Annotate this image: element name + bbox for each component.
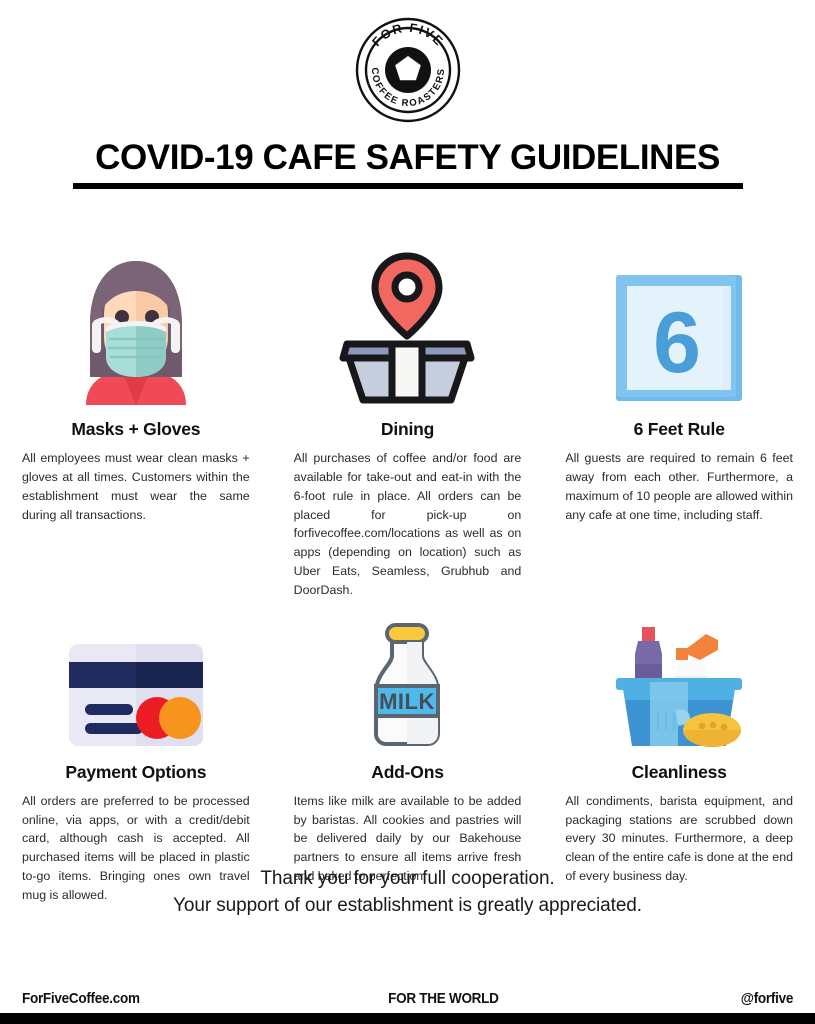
footer-tagline: FOR THE WORLD (389, 990, 499, 1007)
closing-message: Thank you for your full cooperation. You… (0, 866, 815, 920)
takeout-location-pin-icon (337, 250, 477, 405)
credit-card-icon (67, 642, 205, 748)
bottom-black-bar (0, 1013, 815, 1024)
for-five-coffee-roasters-logo-icon: FOR FIVE COFFEE ROASTERS (354, 16, 462, 124)
guideline-icon-wrap (22, 600, 250, 748)
masked-person-icon (62, 253, 210, 405)
guideline-icon-wrap (294, 240, 522, 405)
guideline-card-masks-gloves: Masks + Gloves All employees must wear c… (0, 240, 272, 600)
closing-line-2: Your support of our establishment is gre… (0, 893, 815, 920)
guideline-card-add-ons: MILK Add-Ons Items like milk are availab… (272, 600, 544, 905)
milk-label: MILK (380, 689, 436, 714)
guideline-card-payment-options: Payment Options All orders are preferred… (0, 600, 272, 905)
title-block: COVID-19 CAFE SAFETY GUIDELINES (0, 140, 815, 189)
svg-text:FOR FIVE: FOR FIVE (369, 21, 446, 49)
page-title: COVID-19 CAFE SAFETY GUIDELINES (0, 140, 815, 177)
guideline-body: All purchases of coffee and/or food are … (294, 449, 522, 600)
guideline-body: All guests are required to remain 6 feet… (565, 449, 793, 524)
guideline-icon-wrap (565, 600, 793, 748)
closing-line-1: Thank you for your full cooperation. (0, 866, 815, 893)
guideline-icon-wrap (22, 240, 250, 405)
poster-page: FOR FIVE COFFEE ROASTERS COVID-19 CAFE S… (0, 0, 815, 1024)
guideline-title: Cleanliness (565, 762, 793, 783)
footer-social-handle[interactable]: @forfive (741, 990, 793, 1007)
guideline-title: Payment Options (22, 762, 250, 783)
number-six-square-icon: 6 (612, 271, 746, 405)
guideline-card-dining: Dining All purchases of coffee and/or fo… (272, 240, 544, 600)
guideline-title: Masks + Gloves (22, 419, 250, 440)
guideline-card-six-feet-rule: 6 6 Feet Rule All guests are required to… (543, 240, 815, 600)
footer-website[interactable]: ForFiveCoffee.com (22, 990, 140, 1007)
cleaning-supplies-bucket-icon (614, 622, 744, 748)
guideline-body: All employees must wear clean masks + gl… (22, 449, 250, 524)
guideline-title: Dining (294, 419, 522, 440)
guideline-icon-wrap: MILK (294, 600, 522, 748)
guideline-title: Add-Ons (294, 762, 522, 783)
guideline-title: 6 Feet Rule (565, 419, 793, 440)
guidelines-grid: Masks + Gloves All employees must wear c… (0, 240, 815, 905)
guideline-icon-wrap: 6 (565, 240, 793, 405)
milk-bottle-icon: MILK (364, 622, 450, 748)
six-digit-label: 6 (653, 295, 701, 391)
title-underline-rule (73, 183, 743, 189)
guideline-card-cleanliness: Cleanliness All condiments, barista equi… (543, 600, 815, 905)
brand-logo: FOR FIVE COFFEE ROASTERS (0, 16, 815, 124)
footer-bar: ForFiveCoffee.com FOR THE WORLD @forfive (0, 983, 815, 1013)
